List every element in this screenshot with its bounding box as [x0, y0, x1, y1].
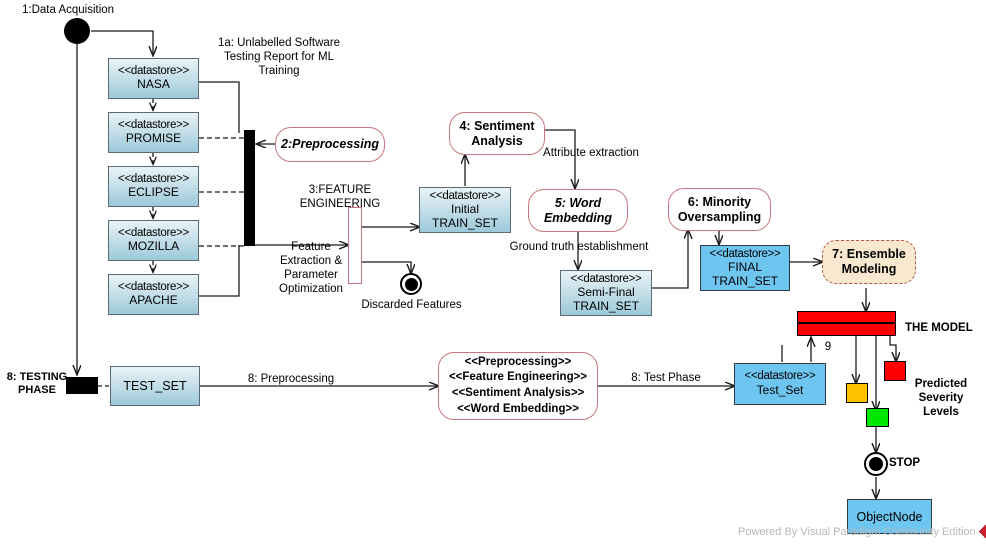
severity-low-square	[866, 408, 889, 427]
activity-diagram-canvas: 1:Data Acquisition <<datastore>> NASA <<…	[0, 0, 986, 548]
visual-paradigm-logo-icon	[979, 521, 986, 542]
model-bar-top	[797, 311, 896, 323]
edge-label-ground-truth: Ground truth establishment	[494, 240, 664, 254]
final-node-stop	[864, 452, 888, 476]
datastore-name: NASA	[137, 78, 170, 92]
datastore-mozilla[interactable]: <<datastore>> MOZILLA	[108, 220, 199, 261]
edge-label-test-phase: 8: Test Phase	[614, 371, 718, 385]
datastore-name: APACHE	[129, 294, 177, 308]
test-set-label: TEST_SET	[123, 379, 186, 393]
watermark-text: Powered By Visual Paradigm Community Edi…	[738, 526, 976, 538]
watermark: Powered By Visual Paradigm Community Edi…	[738, 524, 986, 539]
activity-sentiment-analysis[interactable]: 4: Sentiment Analysis	[449, 112, 545, 155]
start-label: 1:Data Acquisition	[22, 3, 162, 17]
datastore-name: PROMISE	[126, 132, 181, 146]
edge-label-preprocessing: 8: Preprocessing	[236, 372, 346, 386]
initial-node	[64, 18, 90, 44]
datastore-stereotype: <<datastore>>	[571, 273, 642, 286]
datastore-apache[interactable]: <<datastore>> APACHE	[108, 274, 199, 315]
pipeline-line-2: <<Feature Engineering>>	[449, 370, 587, 386]
datastore-name: ECLIPSE	[128, 186, 179, 200]
edge-label-feature-extraction: Feature Extraction & Parameter Optimizat…	[270, 240, 352, 296]
datastore-test-set[interactable]: <<datastore>> Test_Set	[734, 363, 826, 405]
final-node-discarded-features	[400, 273, 422, 295]
datastore-initial-train-set[interactable]: <<datastore>> Initial TRAIN_SET	[419, 187, 511, 233]
activity-ensemble-modeling[interactable]: 7: Ensemble Modeling	[822, 240, 916, 284]
datastore-name: Initial TRAIN_SET	[432, 203, 498, 231]
pipeline-line-3: <<Sentiment Analysis>>	[452, 386, 585, 402]
object-node-label: ObjectNode	[856, 510, 922, 524]
edge-label-unlabelled-report: 1a: Unlabelled Software Testing Report f…	[194, 36, 364, 78]
datastore-semifinal-train-set[interactable]: <<datastore>> Semi-Final TRAIN_SET	[560, 270, 652, 316]
activity-minority-oversampling[interactable]: 6: Minority Oversampling	[668, 188, 771, 231]
pipeline-line-4: <<Word Embedding>>	[457, 402, 579, 418]
activity-test-pipeline[interactable]: <<Preprocessing>> <<Feature Engineering>…	[438, 352, 598, 420]
pipeline-line-1: <<Preprocessing>>	[465, 355, 572, 371]
model-label: THE MODEL	[905, 321, 985, 335]
predicted-severity-levels-label: Predicted Severity Levels	[896, 377, 986, 419]
testing-phase-label: 8: TESTING PHASE	[3, 371, 71, 398]
activity-label: 5: Word Embedding	[544, 196, 612, 226]
test-set-box[interactable]: TEST_SET	[110, 366, 200, 406]
severity-medium-square	[846, 383, 868, 403]
activity-label: 2:Preprocessing	[281, 137, 379, 152]
activity-label: 6: Minority Oversampling	[678, 195, 761, 225]
activity-label: 4: Sentiment Analysis	[459, 119, 534, 149]
datastore-stereotype: <<datastore>>	[710, 248, 781, 261]
model-bar-bottom	[797, 323, 896, 336]
activity-label: 7: Ensemble Modeling	[832, 247, 906, 277]
final-node-discarded-label: Discarded Features	[358, 298, 465, 312]
datastore-stereotype: <<datastore>>	[430, 190, 501, 203]
datastore-stereotype: <<datastore>>	[745, 370, 816, 383]
final-node-stop-label: STOP	[889, 456, 939, 470]
edge-label-nine: 9	[820, 340, 836, 354]
datastore-name: Test_Set	[757, 384, 804, 398]
datastore-eclipse[interactable]: <<datastore>> ECLIPSE	[108, 166, 199, 207]
activity-word-embedding[interactable]: 5: Word Embedding	[528, 189, 628, 232]
datastore-final-train-set[interactable]: <<datastore>> FINAL TRAIN_SET	[700, 245, 790, 291]
datastore-name: FINAL TRAIN_SET	[712, 261, 778, 289]
synchronization-bar	[244, 130, 255, 246]
edge-label-attribute-extraction: Attribute extraction	[536, 146, 646, 160]
testing-phase-bar	[66, 377, 98, 394]
datastore-nasa[interactable]: <<datastore>> NASA	[108, 58, 199, 99]
activity-preprocessing[interactable]: 2:Preprocessing	[275, 127, 385, 162]
datastore-name: MOZILLA	[128, 240, 179, 254]
datastore-promise[interactable]: <<datastore>> PROMISE	[108, 112, 199, 153]
datastore-name: Semi-Final TRAIN_SET	[573, 286, 639, 314]
edge-label-feature-engineering: 3:FEATURE ENGINEERING	[280, 183, 400, 211]
